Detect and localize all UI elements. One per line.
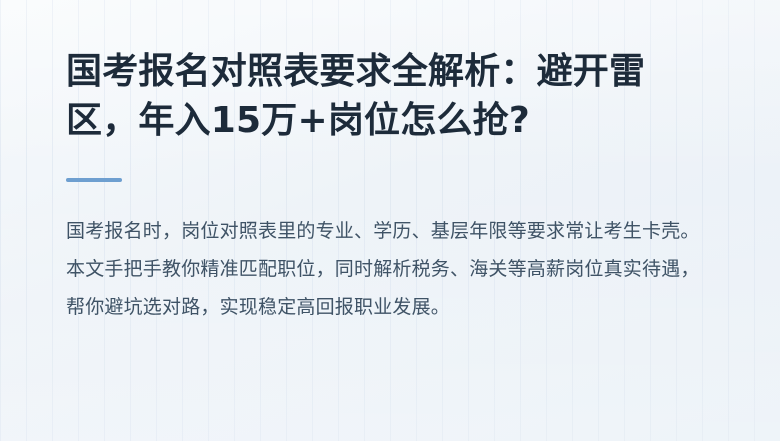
article-summary: 国考报名时，岗位对照表里的专业、学历、基层年限等要求常让考生卡壳。本文手把手教你… [66, 212, 714, 326]
article-card: 国考报名对照表要求全解析：避开雷区，年入15万+岗位怎么抢? 国考报名时，岗位对… [0, 0, 780, 441]
card-content: 国考报名对照表要求全解析：避开雷区，年入15万+岗位怎么抢? 国考报名时，岗位对… [0, 0, 780, 326]
page-title: 国考报名对照表要求全解析：避开雷区，年入15万+岗位怎么抢? [66, 48, 714, 146]
title-divider [66, 178, 122, 182]
